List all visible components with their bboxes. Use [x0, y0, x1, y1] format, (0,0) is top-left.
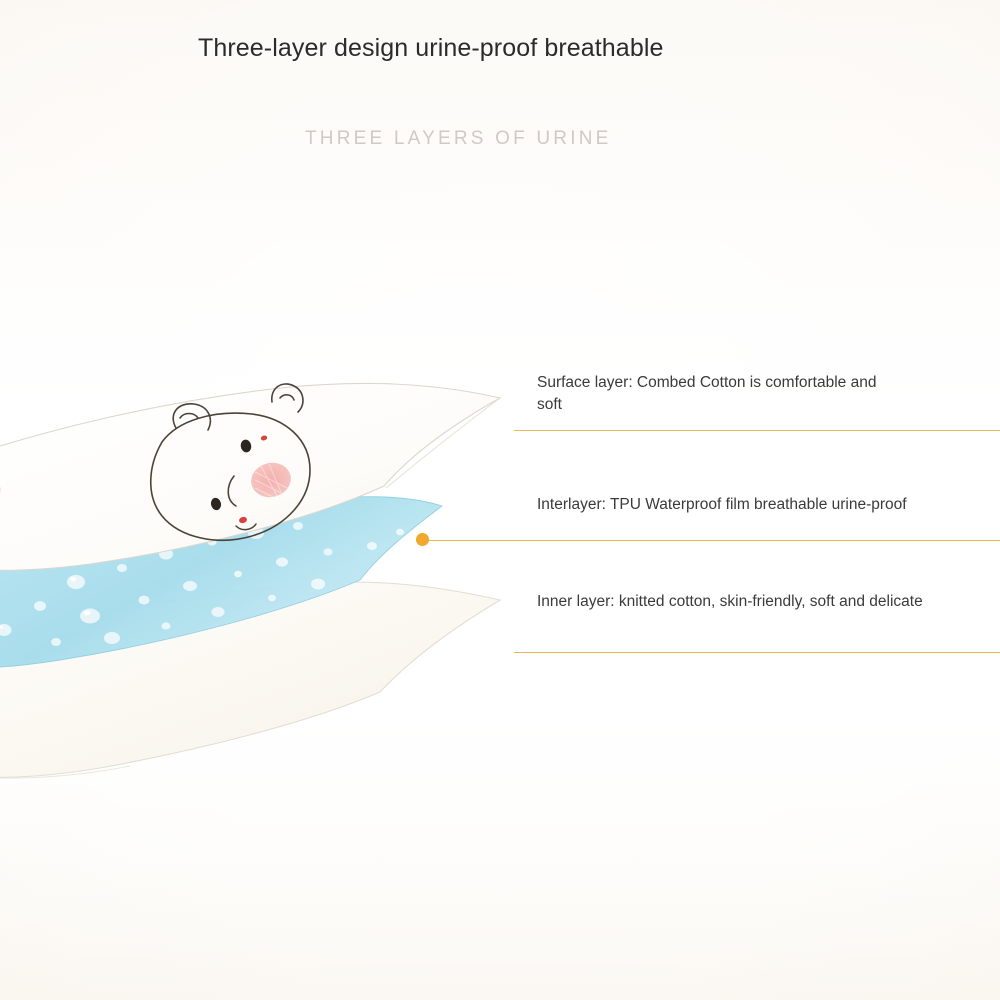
leader-line-surface-layer: [514, 430, 1000, 431]
three-layer-illustration: [0, 330, 560, 800]
callout-interlayer: Interlayer: TPU Waterproof film breathab…: [537, 494, 987, 516]
callout-inner-layer: Inner layer: knitted cotton, skin-friend…: [537, 591, 977, 613]
callout-surface-layer: Surface layer: Combed Cotton is comforta…: [537, 372, 887, 416]
page-subtitle: THREE LAYERS OF URINE: [305, 128, 612, 150]
page-title: Three-layer design urine-proof breathabl…: [198, 30, 738, 66]
callout-dot-interlayer: [416, 533, 429, 546]
leader-line-interlayer: [424, 540, 1000, 541]
leader-line-inner-layer: [514, 652, 1000, 653]
diagram-canvas: Three-layer design urine-proof breathabl…: [0, 0, 1000, 1000]
